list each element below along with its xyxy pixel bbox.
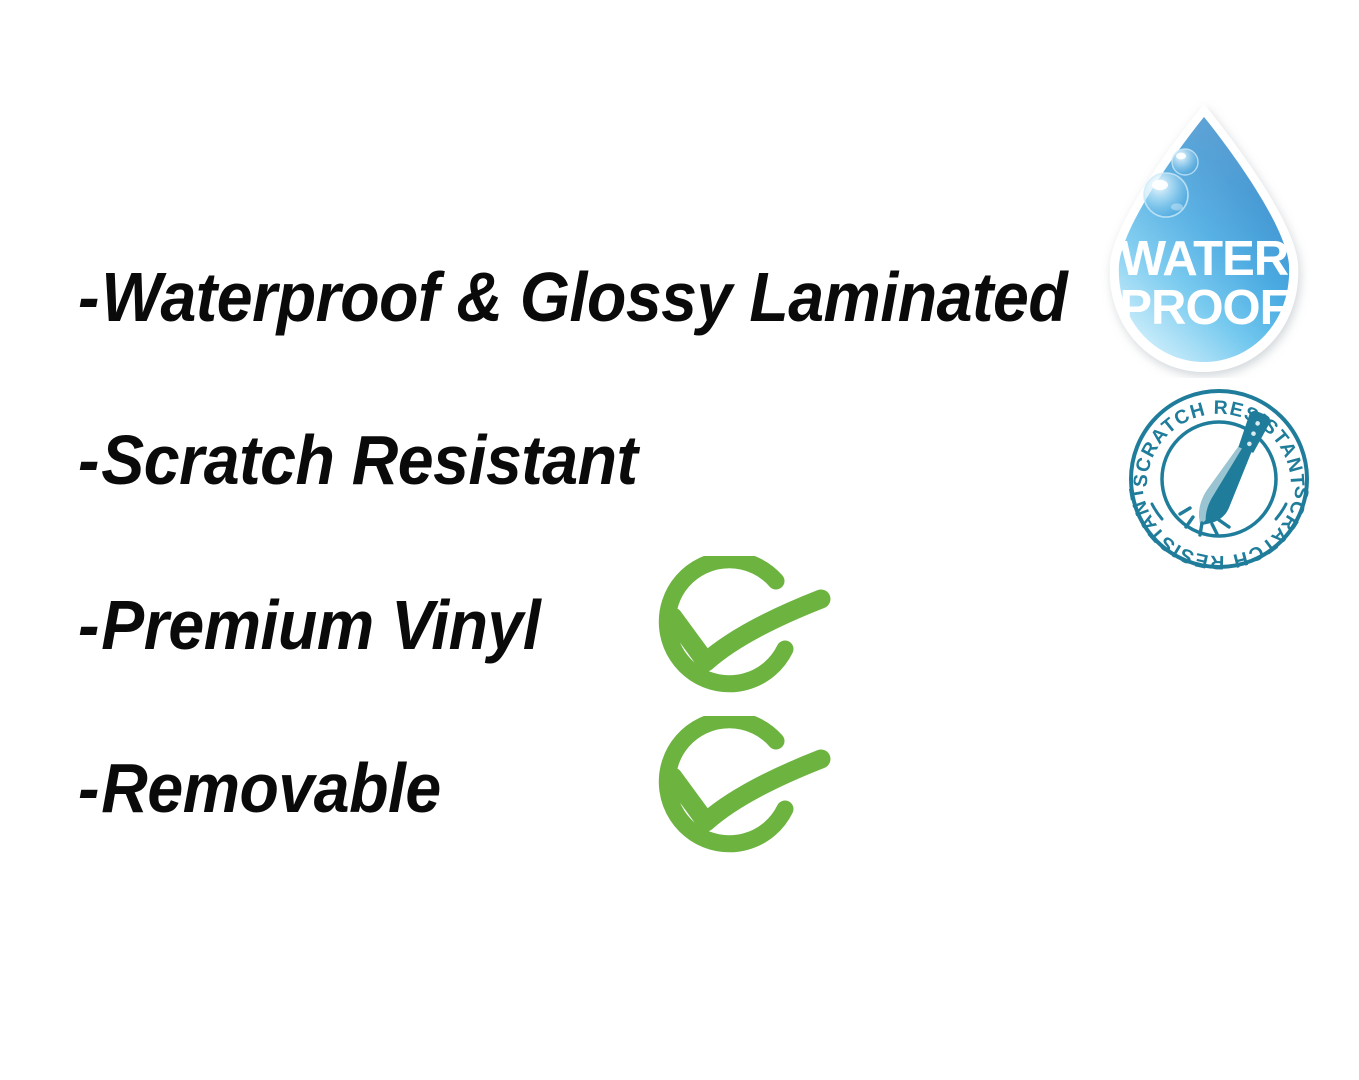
water-bubble-icon bbox=[1172, 149, 1198, 175]
waterproof-line1: WATER bbox=[1120, 232, 1289, 286]
feature-highlights-graphic: -Waterproof & Glossy Laminated -Scratch … bbox=[0, 0, 1359, 1080]
feature-bullet-dash: - bbox=[78, 421, 101, 499]
feature-list-item: -Waterproof & Glossy Laminated bbox=[78, 262, 1067, 332]
scratch-resistant-badge: SCRATCH RESISTANT SCRATCH RESISTANT bbox=[1126, 386, 1312, 572]
feature-bullet-dash: - bbox=[78, 749, 101, 827]
feature-label: Scratch Resistant bbox=[101, 421, 637, 499]
feature-list-item: -Removable bbox=[78, 753, 441, 823]
check-circle-icon bbox=[638, 716, 834, 868]
check-circle-icon bbox=[638, 556, 834, 708]
feature-list-item: -Premium Vinyl bbox=[78, 590, 540, 660]
feature-label: Waterproof & Glossy Laminated bbox=[101, 258, 1067, 336]
feature-label: Removable bbox=[101, 749, 440, 827]
water-bubble-icon bbox=[1144, 173, 1188, 217]
feature-label: Premium Vinyl bbox=[101, 586, 540, 664]
feature-bullet-dash: - bbox=[78, 258, 101, 336]
check-mark-stroke bbox=[673, 599, 821, 662]
check-mark-stroke bbox=[673, 759, 821, 822]
feature-bullet-dash: - bbox=[78, 586, 101, 664]
waterproof-line2: PROOF bbox=[1119, 281, 1288, 335]
feature-list-item: -Scratch Resistant bbox=[78, 425, 638, 495]
waterproof-badge: WATER PROOF bbox=[1098, 100, 1310, 378]
feature-list: -Waterproof & Glossy Laminated -Scratch … bbox=[0, 0, 1100, 1080]
